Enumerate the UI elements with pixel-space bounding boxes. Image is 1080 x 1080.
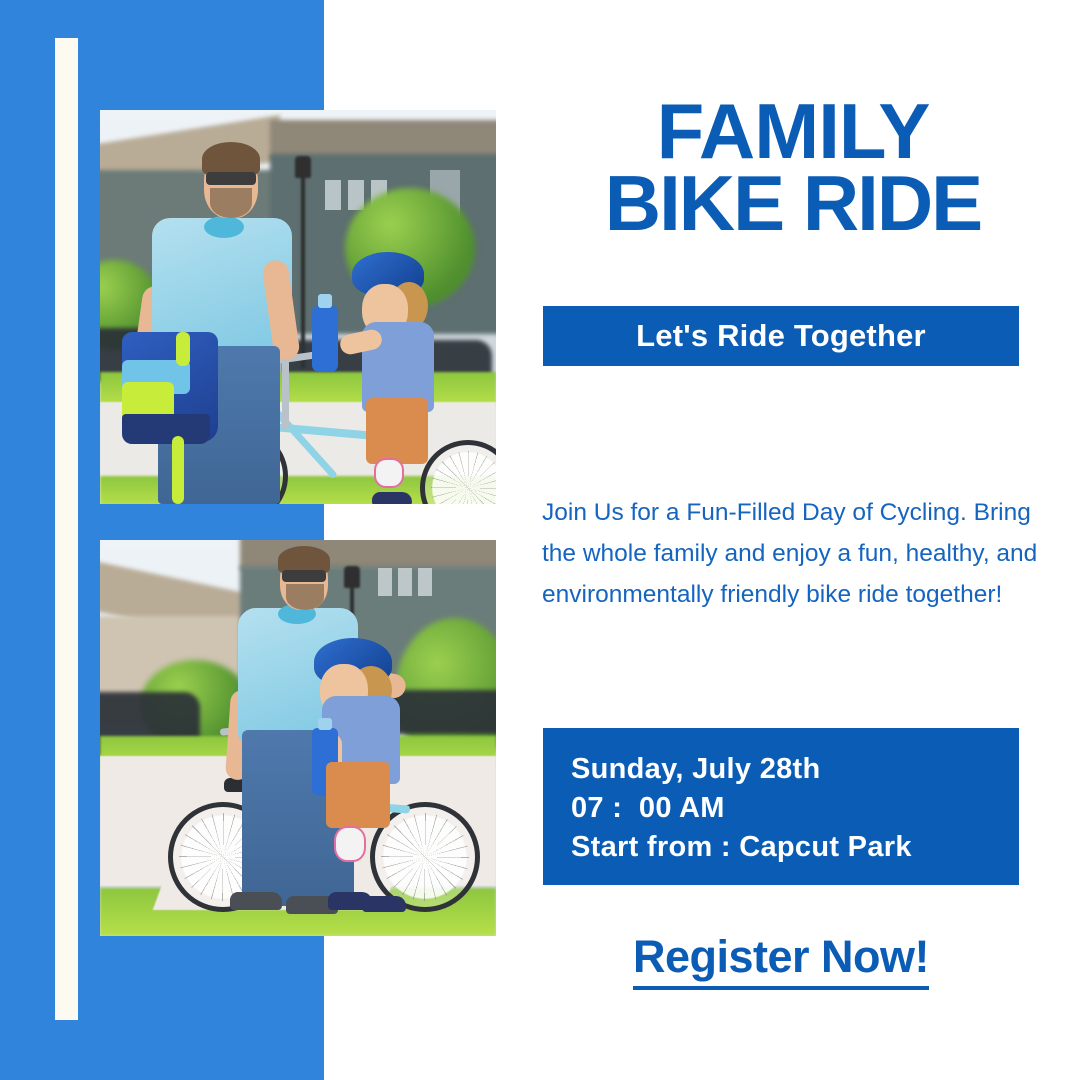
photo-father-and-child-standing bbox=[100, 110, 496, 504]
child-shorts bbox=[366, 398, 428, 464]
water-bottle-cap bbox=[318, 294, 332, 308]
event-location: Start from : Capcut Park bbox=[571, 828, 1019, 867]
backpack-green-tail bbox=[172, 436, 184, 504]
photo-1-scene bbox=[100, 110, 496, 504]
photo-father-hugging-child bbox=[100, 540, 496, 936]
headline-line-2: BIKE RIDE bbox=[543, 168, 1043, 240]
street-lamp-post bbox=[301, 168, 305, 368]
content-column: FAMILY BIKE RIDE Let's Ride Together Joi… bbox=[520, 0, 1080, 1080]
water-bottle-cap bbox=[318, 718, 332, 730]
photo-2-scene bbox=[100, 540, 496, 936]
subtitle-banner: Let's Ride Together bbox=[543, 306, 1019, 366]
child-shoe bbox=[372, 492, 412, 504]
street-lamp-head bbox=[295, 156, 311, 178]
man-shoe-left bbox=[230, 892, 282, 910]
backpack-bottom bbox=[122, 414, 210, 444]
description-paragraph: Join Us for a Fun-Filled Day of Cycling.… bbox=[542, 492, 1042, 615]
child-knee-pad bbox=[374, 458, 404, 488]
man-collar bbox=[204, 216, 244, 238]
bicycle-stem bbox=[282, 360, 289, 430]
man-sunglasses bbox=[206, 172, 256, 185]
backpack-green-strap bbox=[176, 332, 190, 366]
register-cta[interactable]: Register Now! bbox=[543, 931, 1019, 990]
child-shorts bbox=[326, 762, 390, 828]
event-details-box: Sunday, July 28th 07 : 00 AM Start from … bbox=[543, 728, 1019, 885]
street-lamp-head bbox=[344, 566, 360, 588]
subtitle-text: Let's Ride Together bbox=[636, 318, 926, 354]
event-time: 07 : 00 AM bbox=[571, 789, 1019, 828]
man-beard bbox=[286, 584, 324, 610]
event-date: Sunday, July 28th bbox=[571, 750, 1019, 789]
child-shoe-right bbox=[362, 896, 406, 912]
man-hair bbox=[202, 142, 260, 176]
poster-headline: FAMILY BIKE RIDE bbox=[543, 96, 1043, 240]
register-now-link[interactable]: Register Now! bbox=[633, 931, 929, 990]
man-sunglasses bbox=[282, 570, 326, 582]
child-knee-pad bbox=[334, 826, 366, 862]
man-beard bbox=[210, 188, 252, 218]
water-bottle bbox=[312, 306, 338, 372]
cream-accent-stripe bbox=[55, 38, 78, 1020]
